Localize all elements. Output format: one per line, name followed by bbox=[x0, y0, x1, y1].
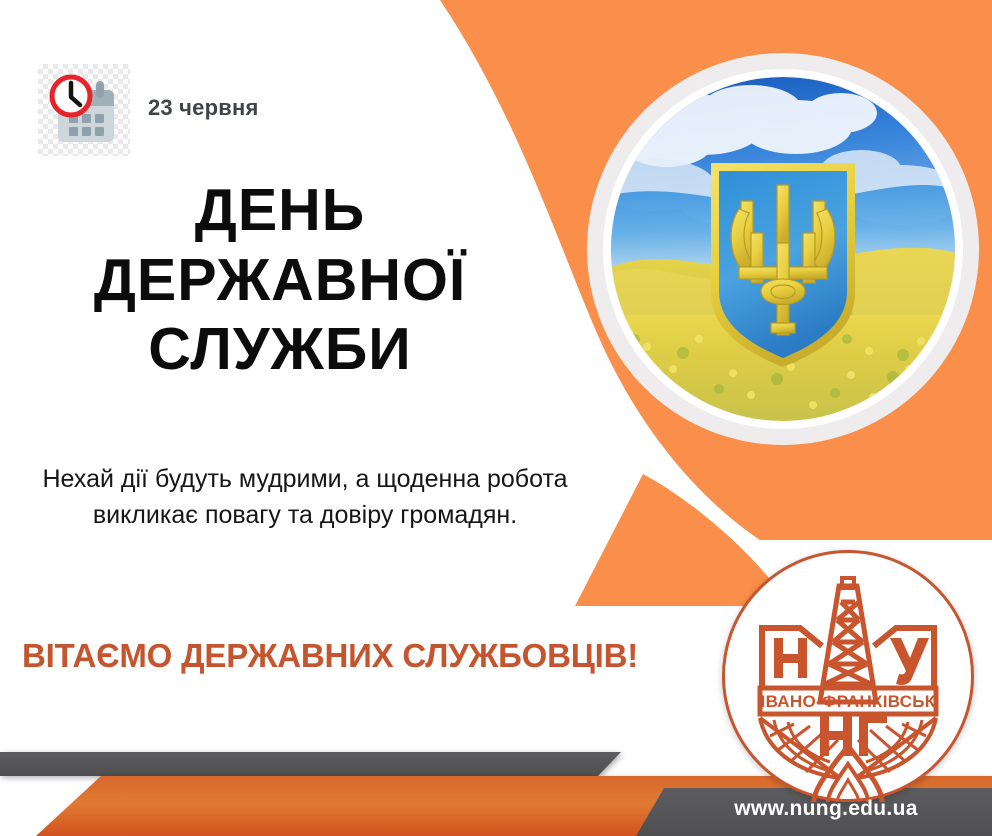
calendar-clock-icon bbox=[38, 64, 130, 156]
poster-canvas: 23 червня ДЕНЬ ДЕРЖАВНОЇ СЛУЖБИ Нехай ді… bbox=[0, 0, 992, 836]
website-url[interactable]: www.nung.edu.ua bbox=[660, 797, 992, 821]
headline-line-2: ДЕРЖАВНОЇ bbox=[0, 246, 560, 316]
subtitle-line-1: Нехай дії будуть мудрими, а щоденна робо… bbox=[6, 462, 604, 498]
ukraine-emblem-photo bbox=[611, 77, 955, 421]
subtitle-paragraph: Нехай дії будуть мудрими, а щоденна робо… bbox=[6, 462, 604, 533]
logo-band-label: ІВАНО-ФРАНКІВСЬК bbox=[761, 692, 936, 711]
page-title: ДЕНЬ ДЕРЖАВНОЇ СЛУЖБИ bbox=[0, 176, 560, 385]
date-badge: 23 червня bbox=[38, 64, 258, 156]
greeting-banner-text: ВІТАЄМО ДЕРЖАВНИХ СЛУЖБОВЦІВ! bbox=[22, 637, 712, 675]
gray-bar-upper bbox=[0, 752, 621, 776]
subtitle-line-2: викликає повагу та довіру громадян. bbox=[6, 498, 604, 534]
university-logo: ІВАНО-ФРАНКІВСЬК bbox=[722, 550, 974, 802]
logo-letter-u bbox=[890, 638, 929, 685]
ukraine-shield bbox=[711, 163, 855, 367]
logo-letter-n bbox=[774, 638, 807, 678]
date-text: 23 червня bbox=[148, 95, 258, 125]
headline-line-1: ДЕНЬ bbox=[0, 176, 560, 246]
logo-name-band: ІВАНО-ФРАНКІВСЬК bbox=[760, 688, 936, 714]
headline-line-3: СЛУЖБИ bbox=[0, 315, 560, 385]
